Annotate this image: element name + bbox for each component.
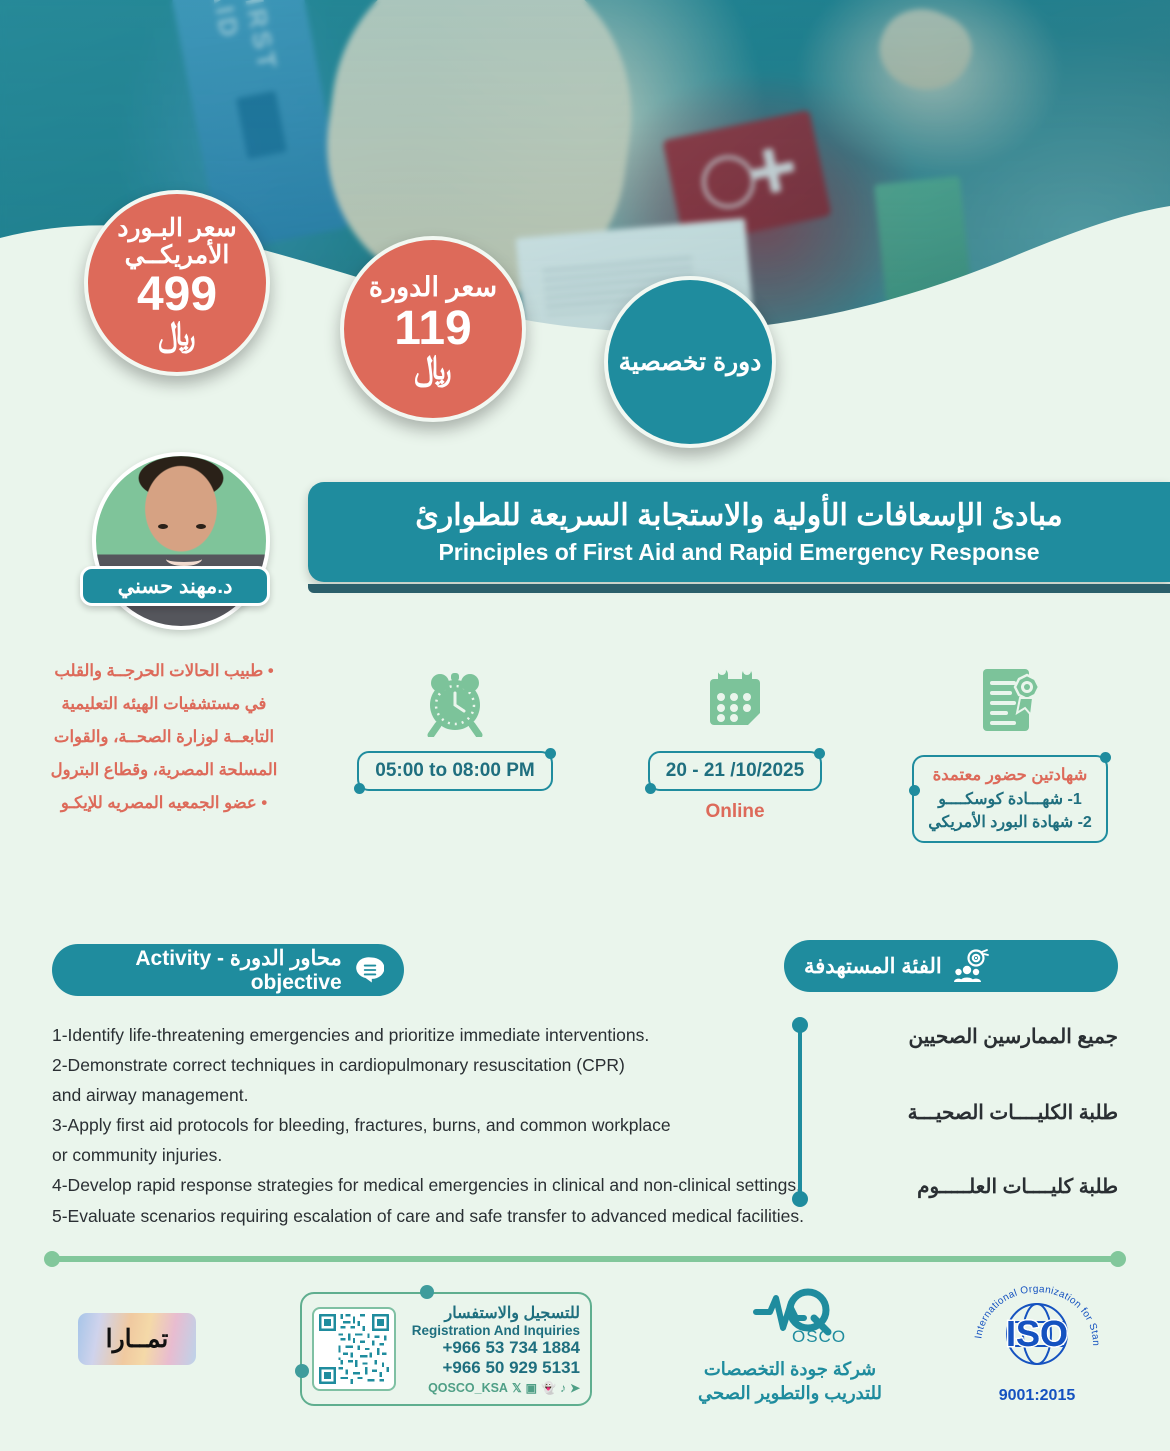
- registration-title-en: Registration And Inquiries: [406, 1323, 580, 1338]
- certificate-item: 2- شهادة البورد الأمريكي: [928, 811, 1092, 834]
- snapchat-icon[interactable]: 👻: [541, 1381, 556, 1395]
- bio-line: • عضو الجمعيه المصريه للإيكـو: [30, 787, 298, 820]
- tiktok-icon[interactable]: ♪: [560, 1381, 566, 1395]
- avatar-eye-left: [158, 524, 168, 529]
- speaker-name-badge: د.مهند حسني: [80, 566, 270, 606]
- course-title-banner: مبادئ الإسعافات الأولية والاستجابة السري…: [308, 482, 1170, 582]
- price-badges: سعر البـورد الأمريكــي 499 ﷼ سعر الدورة …: [0, 190, 1170, 410]
- bio-line: المسلحة المصرية، وقطاع البترول: [30, 754, 298, 787]
- badge-course-label: سعر الدورة: [369, 273, 497, 302]
- registration-contact-card[interactable]: للتسجيل والاستفسار Registration And Inqu…: [300, 1292, 592, 1406]
- qosco-branding: OSCO شركة جودة التخصصات للتدريب والتطوير…: [660, 1288, 920, 1406]
- info-certificates: شهادتين حضور معتمدة 1- شهـــادة كوسكــــ…: [865, 665, 1155, 843]
- objectives-header-label: محاور الدورة - Activity objective: [72, 946, 342, 995]
- speaker-bio: • طبيب الحالات الحرجــة والقلب في مستشفي…: [30, 655, 298, 820]
- audience-header-label: الفئة المستهدفة: [804, 954, 942, 979]
- certificates-pill: شهادتين حضور معتمدة 1- شهـــادة كوسكــــ…: [912, 755, 1108, 843]
- info-time: 05:00 to 08:00 PM: [330, 665, 580, 791]
- iso-standard-number: 9001:2015: [952, 1387, 1122, 1405]
- objective-item: 3-Apply first aid protocols for bleeding…: [52, 1110, 812, 1140]
- audience-item: جميع الممارسين الصحيين: [828, 1024, 1118, 1049]
- certificates-title: شهادتين حضور معتمدة: [928, 764, 1092, 788]
- objective-item: 4-Develop rapid response strategies for …: [52, 1170, 812, 1200]
- contact-phone-1[interactable]: +966 53 734 1884: [406, 1338, 580, 1358]
- x-icon[interactable]: 𝕏: [512, 1381, 522, 1395]
- objectives-header: محاور الدورة - Activity objective: [52, 944, 404, 996]
- qosco-name-line1: شركة جودة التخصصات: [660, 1357, 920, 1381]
- badge-course-amount: 119: [394, 305, 471, 353]
- bio-line: في مستشفيات الهيئه التعليمية: [30, 688, 298, 721]
- course-title-arabic: مبادئ الإسعافات الأولية والاستجابة السري…: [415, 498, 1063, 533]
- social-handle: QOSCO_KSA: [428, 1381, 508, 1395]
- objective-item: 2-Demonstrate correct techniques in card…: [52, 1050, 812, 1080]
- badge-board-label: سعر البـورد الأمريكــي: [88, 215, 266, 269]
- objective-item: 5-Evaluate scenarios requiring escalatio…: [52, 1201, 812, 1231]
- objective-item: 1-Identify life-threatening emergencies …: [52, 1020, 812, 1050]
- speech-bubble-icon: [354, 953, 384, 987]
- alarm-clock-icon: [420, 665, 490, 737]
- audience-header: الفئة المستهدفة: [784, 940, 1118, 992]
- svg-text:OSCO: OSCO: [792, 1327, 846, 1346]
- contact-details: للتسجيل والاستفسار Registration And Inqu…: [406, 1303, 580, 1395]
- info-date: 20 - 21 /10/2025 Online: [610, 665, 860, 823]
- audience-list: جميع الممارسين الصحيين طلبة الكليــــات …: [784, 1012, 1118, 1212]
- calendar-icon: [700, 665, 770, 737]
- course-date-value: 20 - 21 /10/2025: [648, 751, 822, 791]
- footer-divider: [52, 1256, 1118, 1262]
- certificate-icon: [975, 665, 1045, 741]
- iso-certification-badge: International Organization for Standardi…: [952, 1282, 1122, 1405]
- audience-item: طلبة الكليــــات الصحيـــة: [828, 1100, 1118, 1125]
- svg-text:ISO: ISO: [1006, 1313, 1068, 1354]
- qosco-name: شركة جودة التخصصات للتدريب والتطوير الصح…: [660, 1357, 920, 1406]
- bio-line: • طبيب الحالات الحرجــة والقلب: [30, 655, 298, 688]
- course-time-value: 05:00 to 08:00 PM: [357, 751, 552, 791]
- avatar-eye-right: [196, 524, 206, 529]
- social-handle-row[interactable]: QOSCO_KSA 𝕏 ▣ 👻 ♪ ➤: [406, 1381, 580, 1395]
- target-audience-icon: [954, 949, 994, 983]
- badge-specialized-course: دورة تخصصية: [604, 276, 776, 448]
- instagram-icon[interactable]: ▣: [526, 1381, 537, 1395]
- qosco-name-line2: للتدريب والتطوير الصحي: [660, 1381, 920, 1405]
- course-title-english: Principles of First Aid and Rapid Emerge…: [438, 539, 1039, 566]
- badge-specialized-label: دورة تخصصية: [619, 349, 762, 376]
- audience-connector-line: [798, 1026, 802, 1198]
- iso-logo-icon: International Organization for Standardi…: [963, 1282, 1111, 1380]
- objective-item: or community injuries.: [52, 1140, 812, 1170]
- badge-board-price: سعر البـورد الأمريكــي 499 ﷼: [84, 190, 270, 376]
- title-underline-bar: [308, 584, 1170, 593]
- badge-board-amount: 499: [137, 271, 217, 319]
- contact-phone-2[interactable]: +966 50 929 5131: [406, 1358, 580, 1378]
- audience-item: طلبة كليــــات العلـــــوم: [828, 1174, 1118, 1199]
- bio-line: التابعــة لوزارة الصحــة، والقوات: [30, 721, 298, 754]
- qr-code[interactable]: [312, 1307, 396, 1391]
- tamara-logo: تمــارا: [78, 1313, 196, 1365]
- avatar-smile: [166, 552, 202, 566]
- objective-item: and airway management.: [52, 1080, 812, 1110]
- registration-title-ar: للتسجيل والاستفسار: [406, 1303, 580, 1323]
- certificate-item: 1- شهـــادة كوسكــــو: [928, 788, 1092, 811]
- riyal-symbol-icon: ﷼: [414, 351, 452, 385]
- course-info-row: 05:00 to 08:00 PM 20 - 21 /10/2025 Onlin…: [300, 665, 1170, 855]
- riyal-symbol-icon: ﷼: [158, 317, 196, 351]
- telegram-icon[interactable]: ➤: [570, 1381, 580, 1395]
- course-delivery-mode: Online: [610, 801, 860, 823]
- badge-course-price: سعر الدورة 119 ﷼: [340, 236, 526, 422]
- qosco-logo-icon: OSCO: [730, 1288, 850, 1346]
- objectives-list: 1-Identify life-threatening emergencies …: [52, 1020, 812, 1231]
- course-poster: FIRST AID سعر البـورد الأمريكــي 499 ﷼: [0, 0, 1170, 1451]
